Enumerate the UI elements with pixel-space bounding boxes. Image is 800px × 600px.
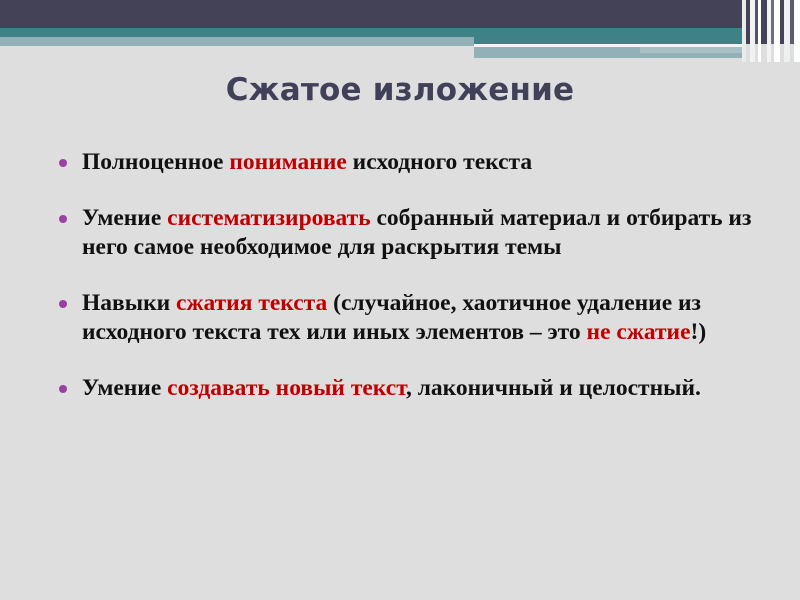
bullet-text: Полноценное понимание исходного текста [82, 149, 532, 175]
bullet-text-run: , лаконичный и целостный. [406, 375, 701, 401]
header-band-pale-left [0, 37, 474, 46]
bullet-text-run: !) [691, 319, 707, 345]
bullet-text-run: исходного текста [347, 149, 532, 175]
header-band-pale-tail [640, 47, 742, 53]
bullet-text-highlight: систематизировать [167, 205, 370, 231]
bullet-text-highlight: не сжатие [587, 319, 691, 345]
slide-title: Сжатое изложение [0, 72, 800, 108]
bullet-text-highlight: понимание [229, 149, 346, 175]
bullet-text: Умение систематизировать собранный матер… [82, 205, 751, 261]
bullet-dot-icon [59, 385, 67, 393]
bullet-text-highlight: создавать новый текст [167, 375, 406, 401]
bullet-text-run: Умение [82, 205, 167, 231]
header-band-teal-left [0, 28, 474, 37]
bullet-dot-icon [59, 159, 67, 167]
bullet-item: Навыки сжатия текста (случайное, хаотичн… [50, 289, 770, 348]
bullet-list: Полноценное понимание исходного текстаУм… [50, 148, 770, 404]
bullet-text: Навыки сжатия текста (случайное, хаотичн… [82, 290, 706, 346]
bullet-text-run: Полноценное [82, 149, 229, 175]
bullet-text-highlight: сжатия текста [176, 290, 327, 316]
bullet-text-run: Навыки [82, 290, 176, 316]
bullet-item: Полноценное понимание исходного текста [50, 148, 770, 178]
bullet-item: Умение создавать новый текст, лаконичный… [50, 374, 770, 404]
bullet-text: Умение создавать новый текст, лаконичный… [82, 375, 701, 401]
bullet-item: Умение систематизировать собранный матер… [50, 204, 770, 263]
bullet-text-run: Умение [82, 375, 167, 401]
bullet-dot-icon [59, 300, 67, 308]
header-band-dark [0, 0, 800, 28]
bullet-dot-icon [59, 215, 67, 223]
header-band-teal-right [474, 28, 742, 44]
header-stripe-light-7 [794, 0, 800, 62]
presentation-slide: Сжатое изложение Полноценное понимание и… [0, 0, 800, 600]
header-decoration [0, 0, 800, 62]
